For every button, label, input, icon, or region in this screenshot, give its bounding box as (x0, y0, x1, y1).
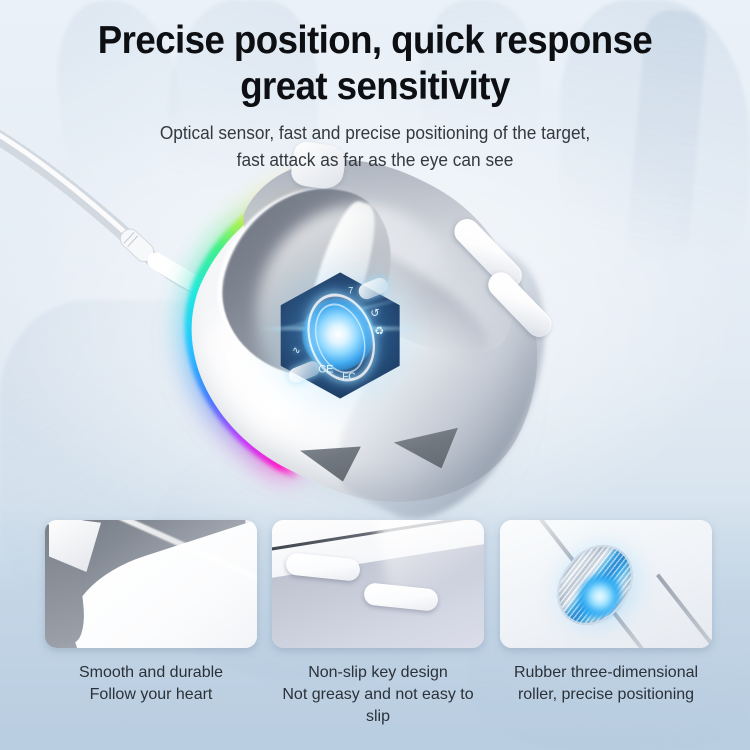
feature-card-non-slip-keys[interactable]: Non-slip key design Not greasy and not e… (272, 520, 484, 728)
feature-caption: Rubber three-dimensional roller, precise… (500, 662, 712, 706)
refresh-icon: ↺ (370, 309, 379, 320)
feature-caption-line2: roller, precise positioning (500, 684, 712, 706)
feature-card-smooth-durable[interactable]: Smooth and durable Follow your heart (45, 520, 257, 706)
feature-card-rubber-roller[interactable]: Rubber three-dimensional roller, precise… (500, 520, 712, 706)
fc-mark-icon: FC (342, 373, 355, 383)
optical-sensor-hex-badge: 7 ↺ ♻ CE FC ∿ (274, 273, 406, 399)
feature-cards: Smooth and durable Follow your heart Non… (0, 520, 750, 750)
side-keys-closeup-thumbnail[interactable] (272, 520, 484, 648)
feature-caption: Non-slip key design Not greasy and not e… (272, 662, 484, 728)
scroll-wheel-closeup-thumbnail[interactable] (500, 520, 712, 648)
ce-mark-icon: CE (318, 365, 333, 376)
feature-caption-line1: Rubber three-dimensional (500, 662, 712, 684)
mouse-shell-closeup-thumbnail[interactable] (45, 520, 257, 648)
thumb-gloss-highlight (376, 520, 484, 604)
feature-caption-line1: Smooth and durable (45, 662, 257, 684)
wave-icon: ∿ (292, 347, 300, 357)
feature-caption-line1: Non-slip key design (272, 662, 484, 684)
page-subheadline-line1: Optical sensor, fast and precise positio… (15, 120, 735, 147)
recycle-icon: ♻ (374, 327, 384, 338)
page-stage: Precise position, quick response great s… (0, 0, 750, 750)
feature-caption-line2: Follow your heart (45, 684, 257, 706)
page-subheadline-line2: fast attack as far as the eye can see (15, 147, 735, 174)
page-headline-line2: great sensitivity (23, 64, 728, 110)
feature-caption: Smooth and durable Follow your heart (45, 662, 257, 706)
header-block: Precise position, quick response great s… (0, 18, 750, 174)
hero-product-image: 7 ↺ ♻ CE FC ∿ (0, 150, 750, 540)
7-icon: 7 (348, 287, 353, 296)
feature-caption-line2: Not greasy and not easy to slip (272, 684, 484, 728)
page-headline-line1: Precise position, quick response (23, 18, 728, 64)
